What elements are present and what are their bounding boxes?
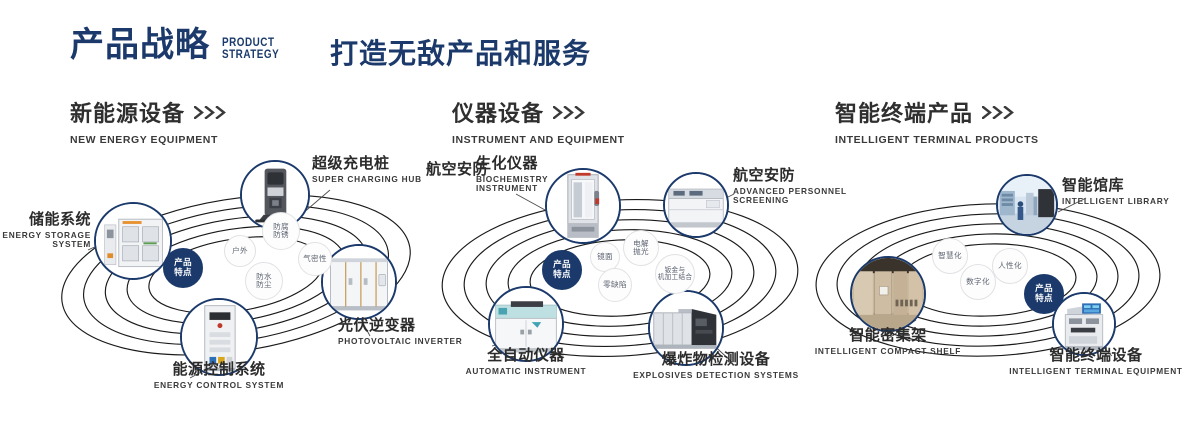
main-title-cn: 产品战略 — [70, 28, 210, 62]
center-bubble-product-features[interactable]: 产品 特点 — [1024, 274, 1064, 314]
caption-intelligent-terminal-equipment: 智能终端设备 INTELLIGENT TERMINAL EQUIPMENT — [992, 348, 1200, 376]
feature-bubble-digitization[interactable]: 数字化 — [960, 264, 996, 300]
section-header-instrument: 仪器设备 INSTRUMENT AND EQUIPMENT — [452, 96, 625, 146]
feature-line: 防尘 — [256, 281, 272, 290]
feature-line: 防锈 — [273, 231, 289, 240]
node-label-en: INTELLIGENT COMPACT SHELF — [788, 347, 988, 356]
feature-bubble-sheet-metal-machining[interactable]: 钣金与 机加工结合 — [655, 254, 695, 294]
feature-bubble-waterproof[interactable]: 防水 防尘 — [245, 262, 283, 300]
chevron-right-icon — [194, 106, 228, 119]
feature-line: 零缺陷 — [603, 281, 627, 290]
node-label-en: ENERGY STORAGE SYSTEM — [0, 231, 91, 250]
compact-shelf-icon — [852, 258, 924, 330]
node-label-cn: 爆炸物检测设备 — [616, 352, 816, 369]
node-label-cn: 生化仪器 — [476, 156, 602, 173]
cluster-intelligent-terminal: 智能馆库 INTELLIGENT LIBRARY — [800, 150, 1200, 400]
node-label-en: EXPLOSIVES DETECTION SYSTEMS — [616, 371, 816, 380]
node-label-en: INTELLIGENT LIBRARY — [1062, 197, 1200, 206]
personnel-screening-machine-icon — [665, 174, 727, 236]
center-bubble-line2: 特点 — [553, 270, 571, 280]
section-title-cn: 智能终端产品 — [835, 96, 973, 128]
node-label-en: AUTOMATIC INSTRUMENT — [420, 367, 632, 376]
node-photovoltaic-inverter[interactable] — [321, 244, 397, 320]
caption-intelligent-compact-shelf: 智能密集架 INTELLIGENT COMPACT SHELF — [788, 328, 988, 356]
node-label-cn: 智能密集架 — [788, 328, 988, 345]
node-intelligent-library[interactable] — [996, 174, 1058, 236]
feature-line: 钣金与 — [658, 267, 692, 274]
node-label-cn: 智能馆库 — [1062, 178, 1200, 195]
caption-energy-storage-system: 储能系统 ENERGY STORAGE SYSTEM — [0, 212, 91, 249]
feature-line: 机加工结合 — [658, 274, 692, 281]
section-title-en: INSTRUMENT AND EQUIPMENT — [452, 134, 625, 146]
feature-line: 户外 — [232, 247, 248, 256]
cluster-new-energy: 储能系统 ENERGY STORAGE SYSTEM 超级充电桩 SUPER C… — [40, 150, 440, 400]
caption-biochemistry-instrument: 生化仪器 BIOCHEMISTRY INSTRUMENT — [476, 156, 602, 193]
caption-intelligent-library: 智能馆库 INTELLIGENT LIBRARY — [1062, 178, 1200, 206]
center-bubble-line2: 特点 — [174, 268, 192, 278]
main-title: 产品战略 PRODUCT STRATEGY — [70, 28, 289, 62]
node-label-en: ENERGY CONTROL SYSTEM — [94, 381, 344, 390]
feature-bubble-outdoor[interactable]: 户外 — [224, 235, 256, 267]
feature-line: 智慧化 — [938, 252, 962, 261]
feature-bubble-zero-defect[interactable]: 零缺陷 — [598, 268, 632, 302]
chevron-right-icon — [982, 106, 1016, 119]
feature-bubble-humanization[interactable]: 人性化 — [992, 248, 1028, 284]
center-bubble-product-features[interactable]: 产品 特点 — [542, 250, 582, 290]
energy-storage-cabinet-icon — [96, 204, 170, 278]
caption-energy-control-system: 能源控制系统 ENERGY CONTROL SYSTEM — [94, 362, 344, 390]
main-title-en: PRODUCT STRATEGY — [222, 37, 279, 61]
feature-line: 数字化 — [966, 278, 990, 287]
cluster-instrument: 航空安防 生化仪器 BIOCHEMISTRY INSTRUMENT — [420, 150, 820, 400]
node-energy-storage-system[interactable] — [94, 202, 172, 280]
node-intelligent-compact-shelf[interactable] — [850, 256, 926, 332]
node-label-cn: 全自动仪器 — [420, 348, 632, 365]
node-label-cn: 能源控制系统 — [94, 362, 344, 379]
feature-line: 抛光 — [633, 248, 649, 257]
feature-bubble-intelligentization[interactable]: 智慧化 — [932, 238, 968, 274]
section-title-en: INTELLIGENT TERMINAL PRODUCTS — [835, 134, 1039, 146]
node-label-cn: 智能终端设备 — [992, 348, 1200, 365]
node-label-en: BIOCHEMISTRY INSTRUMENT — [476, 175, 602, 194]
node-label-cn: 储能系统 — [0, 212, 91, 229]
section-title-cn: 仪器设备 — [452, 96, 544, 128]
feature-bubble-anticorrosion[interactable]: 防腐 防锈 — [262, 212, 300, 250]
intelligent-library-icon — [998, 176, 1056, 234]
feature-line: 人性化 — [998, 262, 1022, 271]
caption-automatic-instrument: 全自动仪器 AUTOMATIC INSTRUMENT — [420, 348, 632, 376]
feature-line: 气密性 — [303, 255, 327, 264]
section-title-en: NEW ENERGY EQUIPMENT — [70, 134, 228, 146]
node-personnel-screening[interactable] — [663, 172, 729, 238]
product-strategy-infographic: 产品战略 PRODUCT STRATEGY 打造无敌产品和服务 新能源设备 NE… — [0, 0, 1200, 422]
caption-aviation-security-left: 航空安防 — [398, 162, 488, 179]
chevron-right-icon — [553, 106, 587, 119]
section-header-intelligent-terminal: 智能终端产品 INTELLIGENT TERMINAL PRODUCTS — [835, 96, 1039, 146]
terminal-kiosk-icon — [1054, 294, 1114, 354]
section-title-cn: 新能源设备 — [70, 96, 185, 128]
main-title-en-line1: PRODUCT — [222, 37, 279, 49]
center-bubble-product-features[interactable]: 产品 特点 — [163, 248, 203, 288]
center-bubble-line2: 特点 — [1035, 294, 1053, 304]
feature-line: 镜面 — [597, 253, 613, 262]
node-label-cn: 航空安防 — [398, 162, 488, 179]
subtitle: 打造无敌产品和服务 — [330, 32, 591, 72]
caption-explosives-detection: 爆炸物检测设备 EXPLOSIVES DETECTION SYSTEMS — [616, 352, 816, 380]
feature-bubble-electropolishing[interactable]: 电解 抛光 — [623, 230, 659, 266]
feature-bubble-airtightness[interactable]: 气密性 — [298, 242, 332, 276]
main-title-en-line2: STRATEGY — [222, 49, 279, 61]
section-header-new-energy: 新能源设备 NEW ENERGY EQUIPMENT — [70, 96, 228, 146]
pv-inverter-cabinet-icon — [323, 246, 395, 318]
node-label-en: INTELLIGENT TERMINAL EQUIPMENT — [992, 367, 1200, 376]
